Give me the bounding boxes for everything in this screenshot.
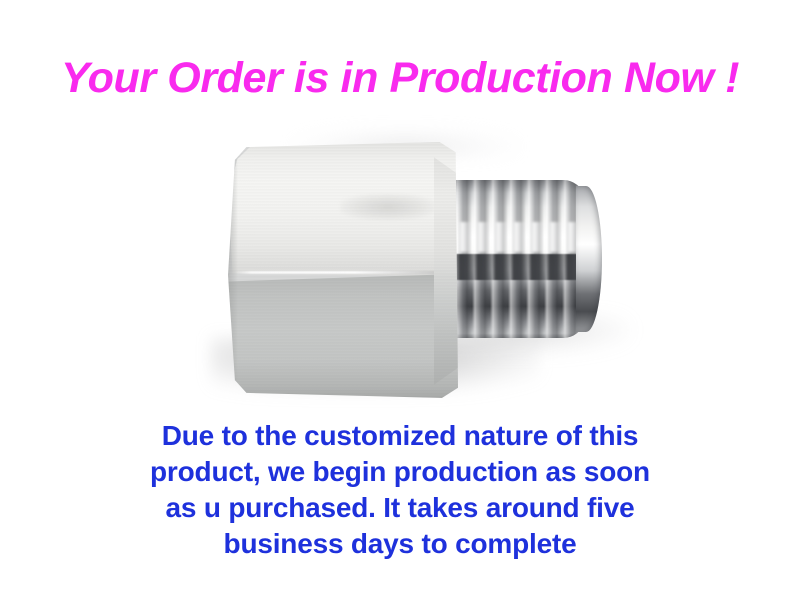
page-title: Your Order is in Production Now !	[0, 52, 800, 104]
hex-nut-body	[228, 142, 458, 398]
thread-highlight	[440, 222, 596, 252]
hex-brushed-finish	[228, 142, 458, 398]
thread-end-cap	[576, 186, 602, 332]
notice-line-3: as u purchased. It takes around five	[0, 490, 800, 526]
production-notice-text: Due to the customized nature of this pro…	[0, 418, 800, 562]
notice-line-4: business days to complete	[0, 526, 800, 562]
notice-line-2: product, we begin production as soon	[0, 454, 800, 490]
production-notice-poster: Your Order is in Production Now ! Due to…	[0, 0, 800, 600]
thread-root-band	[438, 254, 596, 280]
male-threaded-end	[436, 180, 606, 338]
notice-line-1: Due to the customized nature of this	[0, 418, 800, 454]
product-image	[140, 118, 660, 418]
